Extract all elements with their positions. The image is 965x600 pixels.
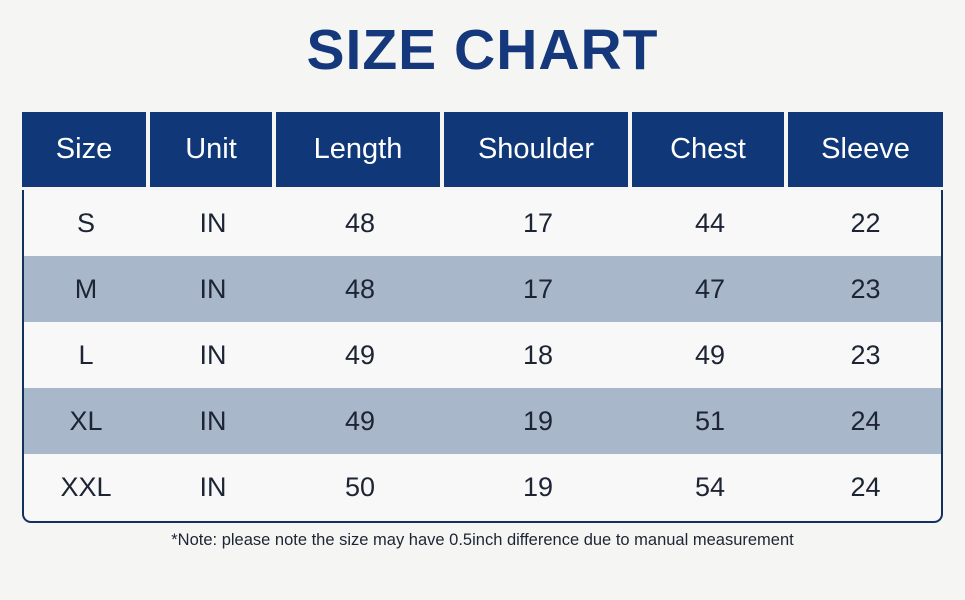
cell-unit: IN — [150, 322, 276, 388]
table-row: S IN 48 17 44 22 — [22, 190, 943, 256]
cell-chest: 54 — [632, 454, 788, 520]
cell-shoulder: 17 — [444, 256, 632, 322]
size-chart-table: Size Unit Length Shoulder Chest Sleeve S… — [22, 112, 943, 520]
cell-size: XL — [22, 388, 150, 454]
cell-shoulder: 19 — [444, 454, 632, 520]
table-row: L IN 49 18 49 23 — [22, 322, 943, 388]
measurement-note: *Note: please note the size may have 0.5… — [0, 531, 965, 550]
column-header-shoulder: Shoulder — [444, 112, 632, 190]
column-header-length: Length — [276, 112, 444, 190]
table-row: M IN 48 17 47 23 — [22, 256, 943, 322]
cell-chest: 47 — [632, 256, 788, 322]
cell-length: 50 — [276, 454, 444, 520]
table-header: Size Unit Length Shoulder Chest Sleeve — [22, 112, 943, 190]
cell-size: S — [22, 190, 150, 256]
cell-length: 49 — [276, 388, 444, 454]
cell-unit: IN — [150, 190, 276, 256]
column-header-unit: Unit — [150, 112, 276, 190]
cell-unit: IN — [150, 454, 276, 520]
column-header-sleeve: Sleeve — [788, 112, 943, 190]
cell-sleeve: 23 — [788, 256, 943, 322]
cell-unit: IN — [150, 388, 276, 454]
cell-unit: IN — [150, 256, 276, 322]
table-header-row: Size Unit Length Shoulder Chest Sleeve — [22, 112, 943, 190]
column-header-size: Size — [22, 112, 150, 190]
cell-size: M — [22, 256, 150, 322]
table-body: S IN 48 17 44 22 M IN 48 17 47 23 L — [22, 190, 943, 520]
table-row: XXL IN 50 19 54 24 — [22, 454, 943, 520]
cell-length: 48 — [276, 190, 444, 256]
cell-sleeve: 23 — [788, 322, 943, 388]
size-chart-page: SIZE CHART Size Unit Length Shoulder Che… — [0, 0, 965, 600]
cell-size: XXL — [22, 454, 150, 520]
cell-sleeve: 22 — [788, 190, 943, 256]
table-row: XL IN 49 19 51 24 — [22, 388, 943, 454]
cell-shoulder: 17 — [444, 190, 632, 256]
cell-shoulder: 18 — [444, 322, 632, 388]
cell-size: L — [22, 322, 150, 388]
cell-shoulder: 19 — [444, 388, 632, 454]
cell-chest: 51 — [632, 388, 788, 454]
page-title: SIZE CHART — [0, 0, 965, 79]
cell-chest: 44 — [632, 190, 788, 256]
cell-length: 49 — [276, 322, 444, 388]
cell-sleeve: 24 — [788, 388, 943, 454]
cell-chest: 49 — [632, 322, 788, 388]
cell-length: 48 — [276, 256, 444, 322]
size-chart-table-wrapper: Size Unit Length Shoulder Chest Sleeve S… — [22, 112, 943, 520]
cell-sleeve: 24 — [788, 454, 943, 520]
column-header-chest: Chest — [632, 112, 788, 190]
